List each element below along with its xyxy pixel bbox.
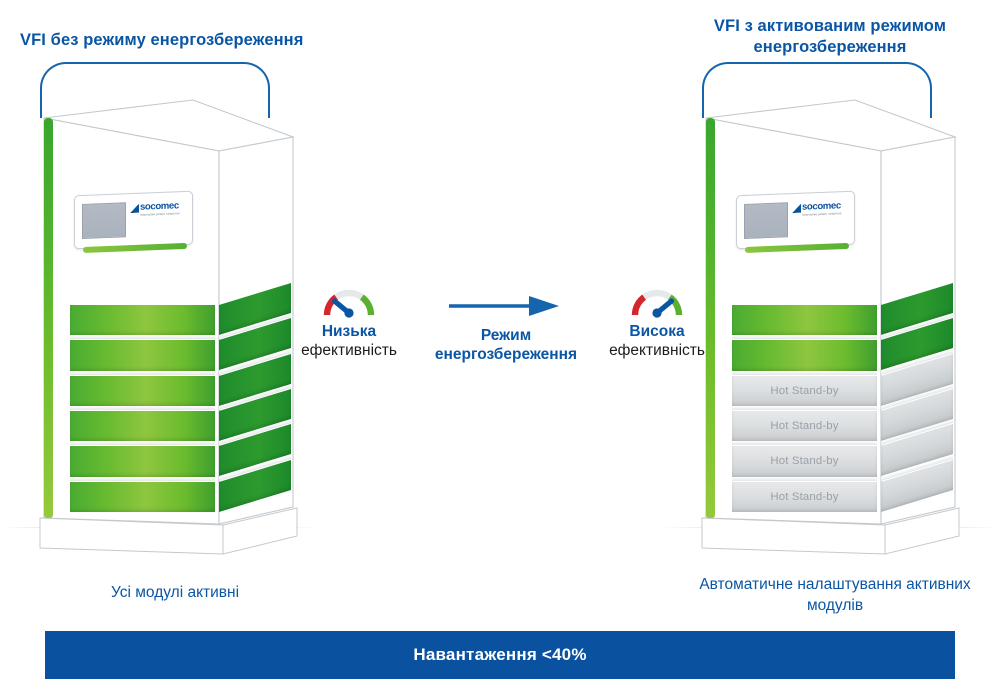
module-1-active [732,305,877,335]
socomec-logo-left: socomec innovative power solutions [130,201,186,219]
socomec-mark-icon [130,204,139,213]
module-stack-side-left [219,305,291,517]
gauge-high-icon [630,288,684,318]
socomec-logo-right: socomec innovative power solutions [792,201,848,219]
module-2-active [70,340,215,370]
high-efficiency-group: Висока ефективність [602,288,712,361]
module-separator [732,335,877,339]
module-6-active [70,482,215,512]
module-separator [732,371,877,375]
module-stack-front-right: Hot Stand-byHot Stand-byHot Stand-byHot … [732,305,877,517]
caption-right: Автоматичне налаштування активних модулі… [690,575,980,617]
title-right: VFI з активованим режимом енергозбережен… [680,16,980,59]
control-panel-left[interactable]: socomec innovative power solutions [74,191,193,250]
module-5-active [70,446,215,476]
control-panel-right[interactable]: socomec innovative power solutions [736,191,855,250]
module-1-active [70,305,215,335]
module-2-active [732,340,877,370]
module-separator [732,477,877,481]
gauge-low-icon [322,288,376,318]
low-efficiency-group: Низька ефективність [290,288,408,361]
load-banner-label: Навантаження <40% [413,645,586,665]
module-separator [70,441,215,445]
module-separator [70,371,215,375]
socomec-mark-icon [792,204,801,213]
socomec-logo-tagline: innovative power solutions [802,212,842,216]
module-3-standby: Hot Stand-by [732,376,877,406]
cabinet-accent-strip-left [44,118,53,518]
module-status-label: Hot Stand-by [732,491,877,503]
arrow-right-icon [447,290,565,320]
low-efficiency-line1: Низька [290,322,408,341]
module-stack-side-right [881,305,953,517]
eco-mode-diagram: VFI без режиму енергозбереження VFI з ак… [0,0,1000,698]
ups-cabinet-eco-mode: socomec innovative power solutions Hot S… [680,62,960,562]
control-panel-display-left [82,202,126,239]
module-separator [70,335,215,339]
module-separator [70,477,215,481]
load-banner: Навантаження <40% [45,631,955,679]
module-5-standby: Hot Stand-by [732,446,877,476]
low-efficiency-line2: ефективність [290,341,408,360]
module-separator [70,406,215,410]
eco-mode-group: Режим енергозбереження [426,288,586,365]
control-panel-display-right [744,202,788,239]
efficiency-transition-block: Низька ефективність Режим енергозбережен… [290,288,710,378]
title-left: VFI без режиму енергозбереження [20,30,303,51]
module-separator [732,406,877,410]
high-efficiency-line1: Висока [602,322,712,341]
ups-cabinet-all-active: socomec innovative power solutions [18,62,298,562]
caption-left: Усі модулі активні [45,583,305,604]
module-stack-front-left [70,305,215,517]
module-status-label: Hot Stand-by [732,420,877,432]
module-6-standby: Hot Stand-by [732,482,877,512]
module-status-label: Hot Stand-by [732,385,877,397]
socomec-logo-tagline: innovative power solutions [140,212,180,216]
eco-mode-line2: енергозбереження [426,345,586,364]
module-4-standby: Hot Stand-by [732,411,877,441]
module-4-active [70,411,215,441]
eco-mode-line1: Режим [426,326,586,345]
high-efficiency-line2: ефективність [602,341,712,360]
module-status-label: Hot Stand-by [732,455,877,467]
module-3-active [70,376,215,406]
module-separator [732,441,877,445]
